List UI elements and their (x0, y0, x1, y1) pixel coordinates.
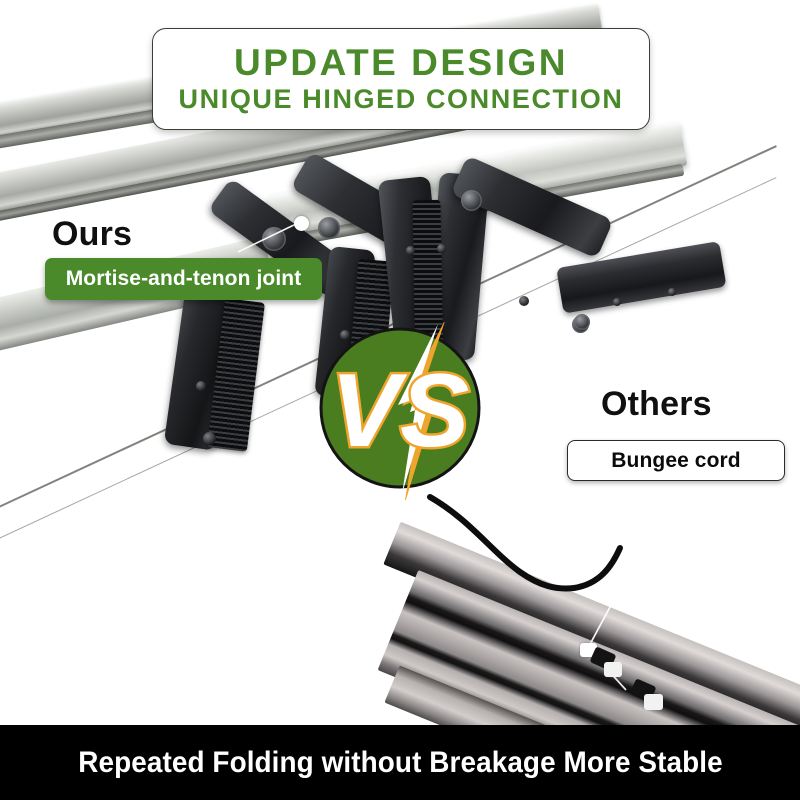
hinge-pivot-right (461, 190, 482, 211)
vs-badge: VS (318, 322, 490, 500)
hinge-rivet-right-3 (519, 296, 529, 306)
bungee-anchor-1-cap (604, 662, 622, 677)
badge-mortise-and-tenon-joint-text: Mortise-and-tenon joint (66, 267, 302, 291)
footer-banner: Repeated Folding without Breakage More S… (0, 725, 800, 800)
header-title-secondary: UNIQUE HINGED CONNECTION (179, 85, 624, 113)
label-others: Others (601, 385, 712, 424)
label-ours: Ours (52, 215, 132, 254)
endcap-rivet-1 (613, 298, 621, 306)
hinge-rivet-right-1 (406, 246, 415, 255)
header-title-primary: UPDATE DESIGN (234, 44, 568, 83)
product-comparison-image: UPDATE DESIGN UNIQUE HINGED CONNECTION O… (0, 0, 800, 800)
svg-text:VS: VS (331, 353, 470, 469)
hinge-rivet-right-2 (437, 244, 446, 253)
bungee-anchor-2-cap (644, 694, 663, 710)
footer-banner-text: Repeated Folding without Breakage More S… (78, 746, 722, 780)
endcap-rivet-2 (668, 288, 676, 296)
header-banner: UPDATE DESIGN UNIQUE HINGED CONNECTION (152, 28, 650, 130)
hinge-pivot-center (318, 217, 340, 239)
endcap-rivet-3 (574, 314, 590, 330)
vs-letters: VS (331, 353, 470, 469)
badge-bungee-cord: Bungee cord (567, 440, 785, 481)
hinge-rivet-left-1 (196, 381, 206, 391)
hinge-pivot-left (262, 227, 286, 251)
vs-badge-graphic: VS (318, 322, 490, 500)
badge-bungee-cord-text: Bungee cord (611, 449, 740, 473)
hinge-rivet-left-2 (203, 432, 216, 445)
badge-mortise-and-tenon-joint: Mortise-and-tenon joint (45, 258, 322, 300)
callout-dot-ours (294, 216, 309, 231)
